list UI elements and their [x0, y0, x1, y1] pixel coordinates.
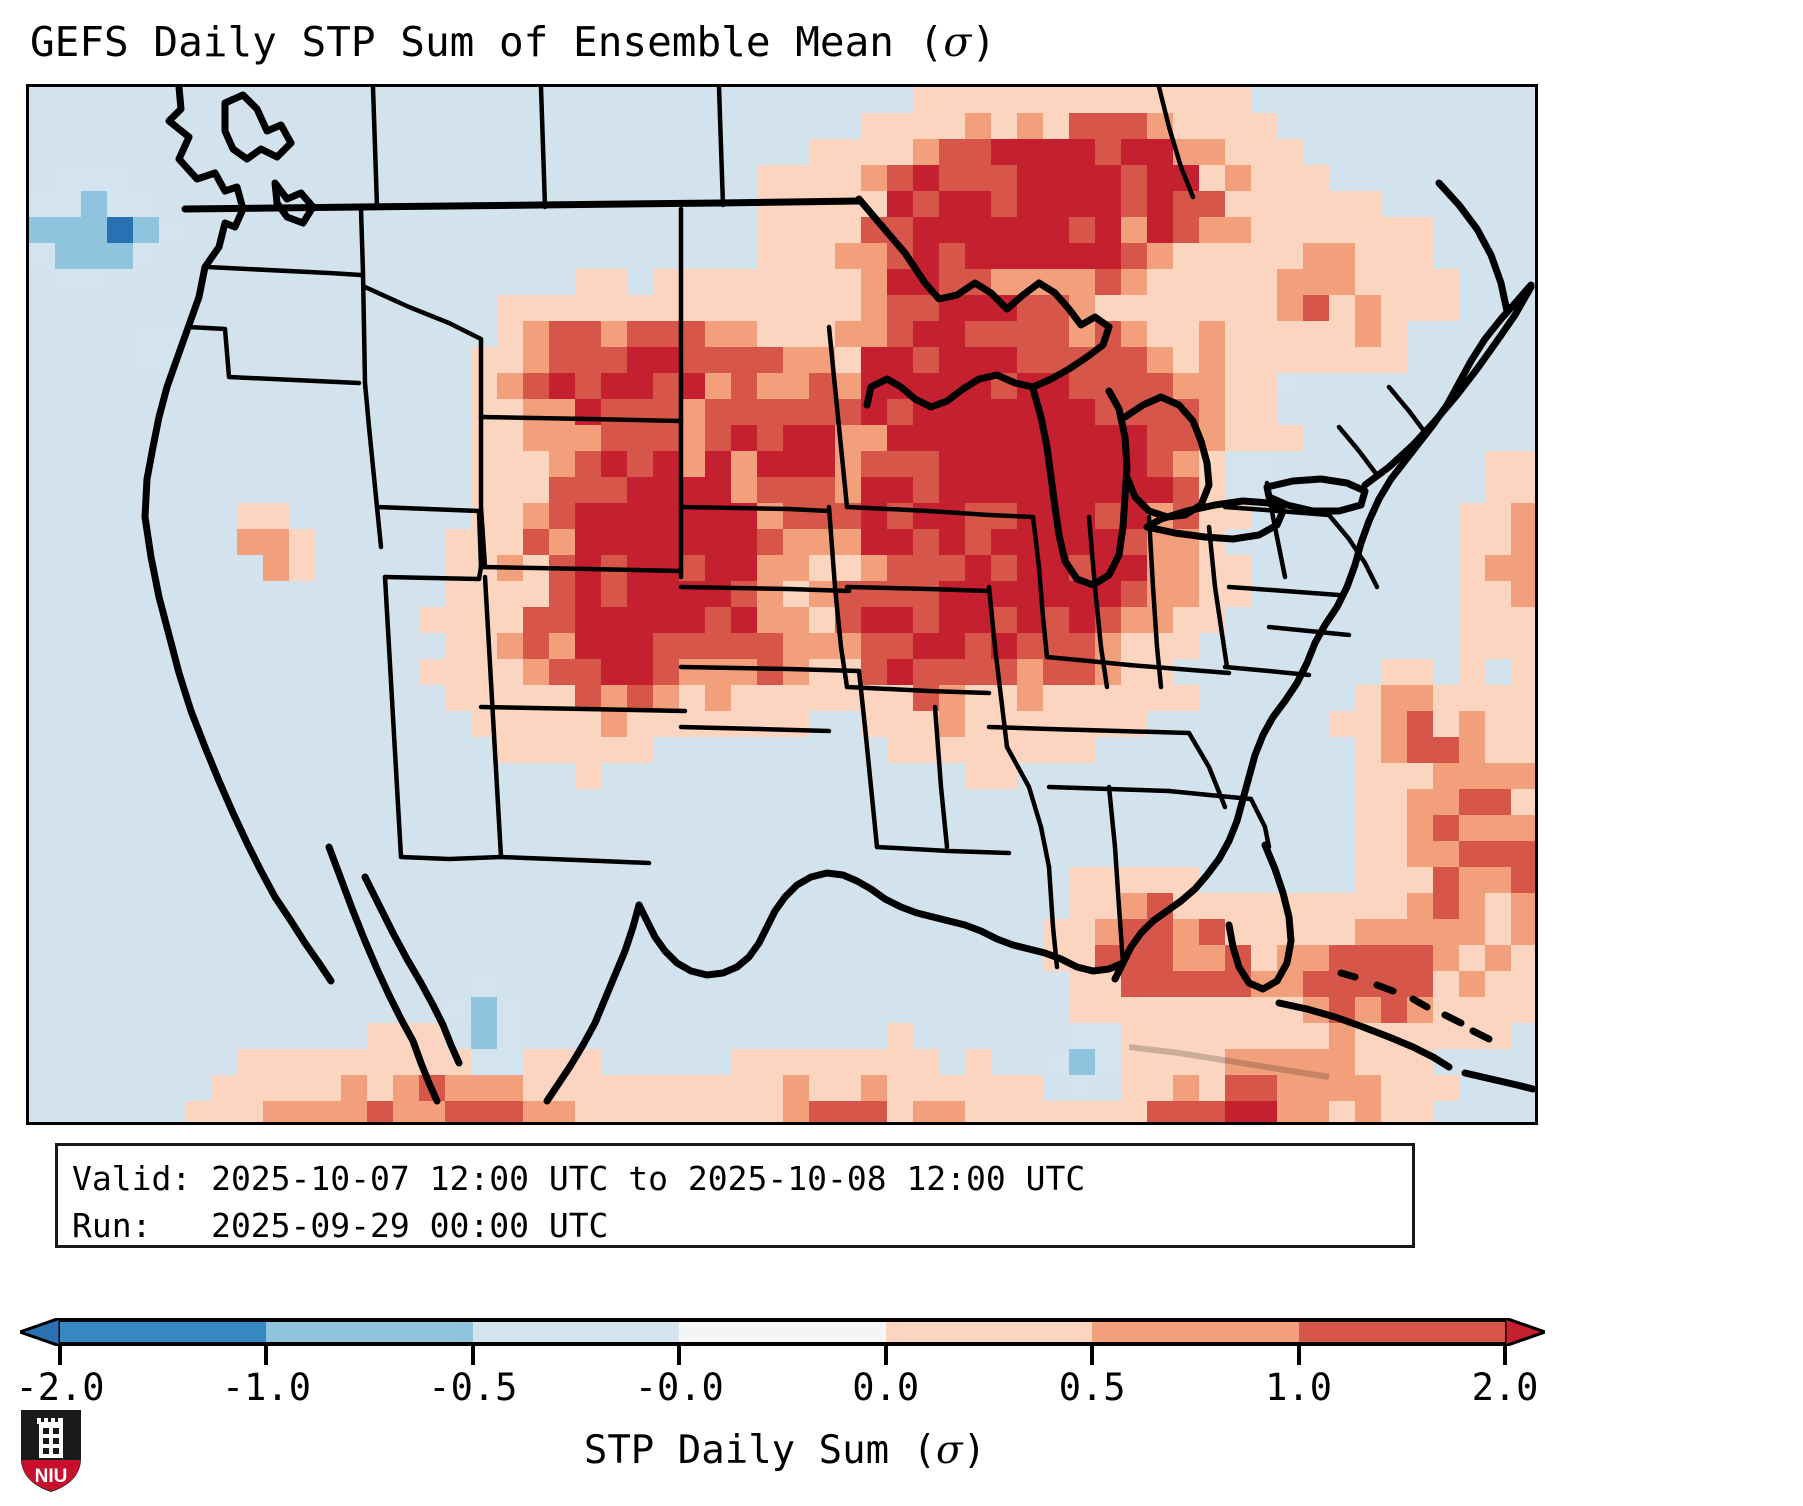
- colorbar-tick-label-2: -0.5: [428, 1366, 517, 1409]
- page-title-suffix: ): [971, 18, 996, 66]
- colorbar-title: STP Daily Sum (σ): [0, 1428, 1570, 1473]
- colorbar-band-1: [266, 1322, 472, 1342]
- niu-logo: NIU: [17, 1408, 85, 1494]
- colorbar-title-text: STP Daily Sum (: [584, 1428, 936, 1473]
- colorbar-title-suffix: ): [963, 1428, 986, 1473]
- path-faint-cuba: [1129, 1047, 1329, 1077]
- colorbar-tick-label-0: -2.0: [15, 1366, 104, 1409]
- logo-text: NIU: [35, 1466, 68, 1487]
- colorbar-bands: [60, 1318, 1505, 1346]
- colorbar[interactable]: [60, 1318, 1505, 1346]
- colorbar-tick-label-7: 2.0: [1472, 1366, 1539, 1409]
- colorbar-band-6: [1299, 1322, 1505, 1342]
- colorbar-band-3: [679, 1322, 885, 1342]
- colorbar-tick-4: [884, 1346, 888, 1365]
- map-under-infobox-layer: [29, 87, 1535, 1122]
- logo-tower-icon: [37, 1418, 63, 1458]
- colorbar-band-2: [473, 1322, 679, 1342]
- colorbar-tick-5: [1090, 1346, 1094, 1365]
- colorbar-tick-7: [1503, 1346, 1507, 1365]
- sigma-symbol: σ: [943, 18, 971, 66]
- colorbar-tick-6: [1297, 1346, 1301, 1365]
- map-panel[interactable]: [26, 84, 1538, 1125]
- colorbar-tick-label-6: 1.0: [1265, 1366, 1332, 1409]
- colorbar-ticks: [60, 1346, 1505, 1368]
- page-title-text: GEFS Daily STP Sum of Ensemble Mean (: [30, 18, 943, 66]
- map-clip: [29, 87, 1535, 1122]
- colorbar-band-4: [886, 1322, 1092, 1342]
- colorbar-over-arrow: [1505, 1318, 1545, 1346]
- colorbar-under-arrow: [20, 1318, 60, 1346]
- colorbar-tick-label-3: -0.0: [635, 1366, 724, 1409]
- info-box: Valid: 2025-10-07 12:00 UTC to 2025-10-0…: [55, 1143, 1415, 1248]
- colorbar-tick-2: [471, 1346, 475, 1365]
- figure-canvas: GEFS Daily STP Sum of Ensemble Mean (σ): [0, 0, 1803, 1506]
- colorbar-tick-1: [264, 1346, 268, 1365]
- colorbar-tick-0: [58, 1346, 62, 1365]
- colorbar-tick-label-5: 0.5: [1059, 1366, 1126, 1409]
- colorbar-tick-labels: -2.0-1.0-0.5-0.00.00.51.02.0: [0, 1366, 1803, 1420]
- colorbar-tick-label-1: -1.0: [222, 1366, 311, 1409]
- info-line-valid: Valid: 2025-10-07 12:00 UTC to 2025-10-0…: [72, 1155, 1398, 1202]
- colorbar-band-5: [1092, 1322, 1298, 1342]
- colorbar-sigma-symbol: σ: [936, 1428, 963, 1473]
- colorbar-band-0: [60, 1322, 266, 1342]
- colorbar-tick-label-4: 0.0: [852, 1366, 919, 1409]
- page-title: GEFS Daily STP Sum of Ensemble Mean (σ): [30, 18, 996, 66]
- info-line-run: Run: 2025-09-29 00:00 UTC: [72, 1202, 1398, 1249]
- colorbar-tick-3: [677, 1346, 681, 1365]
